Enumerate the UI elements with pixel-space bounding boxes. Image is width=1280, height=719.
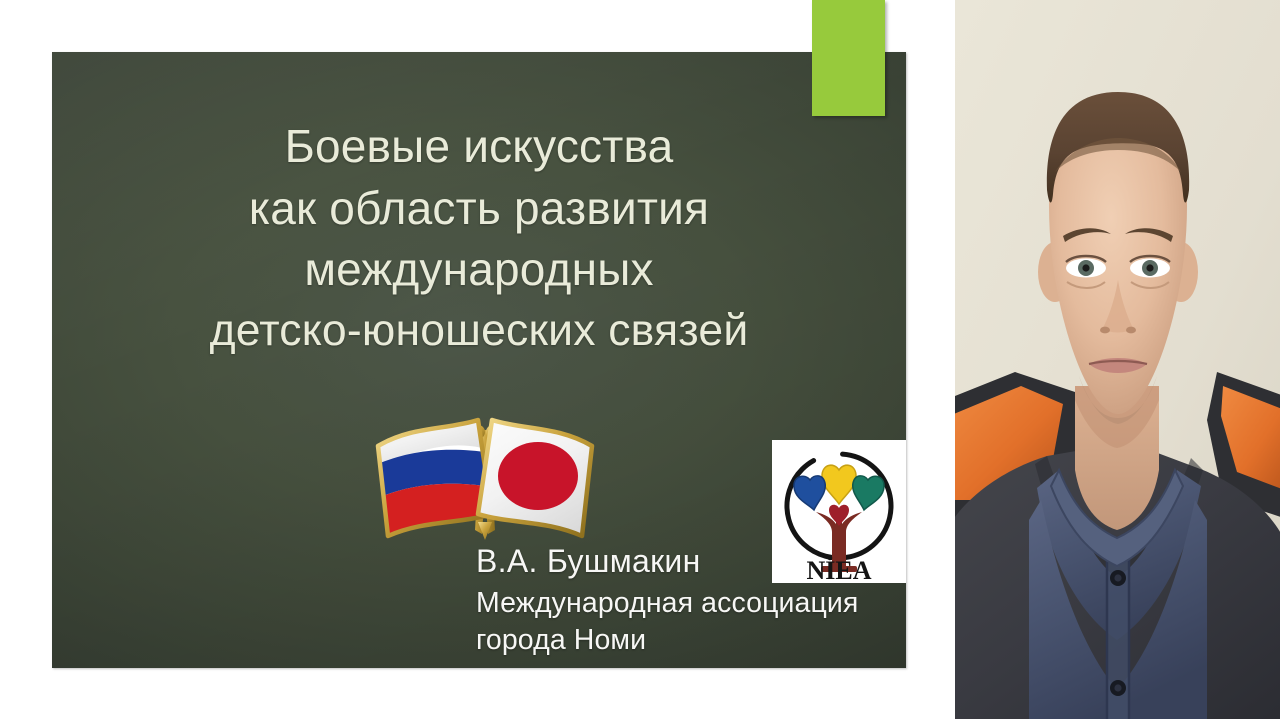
accent-rectangle [812,0,885,116]
slide-screenshot: Боевые искусства как область развития ме… [0,0,1280,719]
niea-wordmark: NIEA [806,556,871,583]
title-line-4: детско-юношеских связей [52,301,906,361]
title-line-1: Боевые искусства [52,116,906,178]
title-line-2: как область развития [52,178,906,240]
affiliation-line-2: города Номи [476,622,906,658]
page-title: Боевые искусства как область развития ме… [52,116,906,361]
affiliation-line-1: Международная ассоциация [476,585,906,621]
speaker-video-feed [955,0,1280,719]
presentation-slide: Боевые искусства как область развития ме… [0,0,955,719]
niea-logo: NIEA [772,440,906,583]
russia-japan-flag-pin-icon [360,402,610,548]
title-panel: Боевые искусства как область развития ме… [52,52,906,668]
title-line-3: международных [52,239,906,301]
